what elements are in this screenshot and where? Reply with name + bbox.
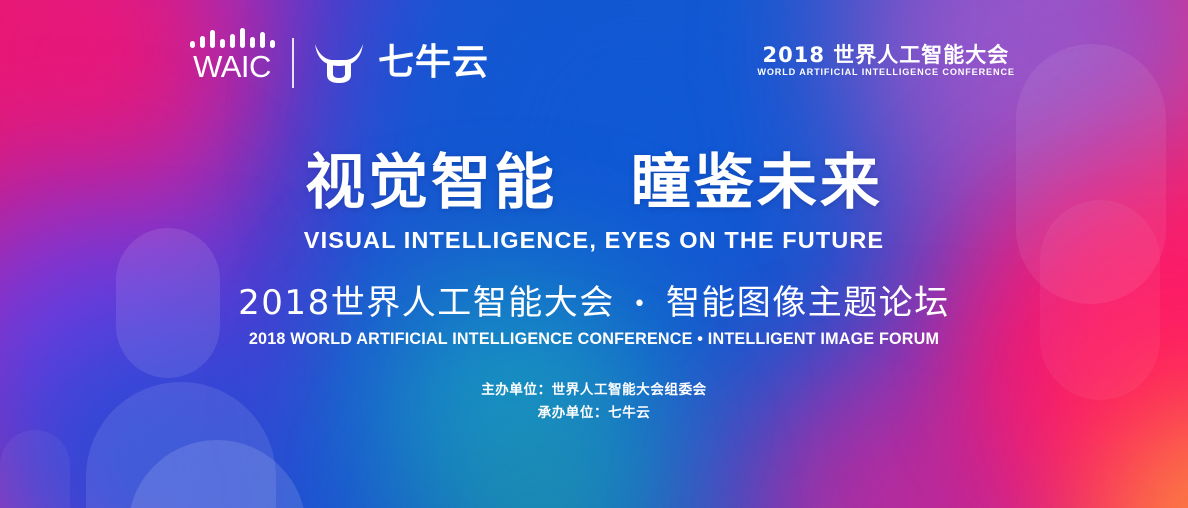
conference-banner: WAIC 七牛云 2018 世界人工智能大会 WORLD ARTIFICIAL … xyxy=(0,0,1188,508)
page-title: 视觉智能 瞳鉴未来 xyxy=(0,150,1188,216)
banner-main: 视觉智能 瞳鉴未来 VISUAL INTELLIGENCE, EYES ON T… xyxy=(0,150,1188,426)
conference-badge: 2018 世界人工智能大会 WORLD ARTIFICIAL INTELLIGE… xyxy=(752,44,1020,78)
conference-title-cn: 2018世界人工智能大会 • 智能图像主题论坛 xyxy=(0,284,1188,323)
conference-title-cn-left: 2018世界人工智能大会 xyxy=(238,283,615,323)
qiniu-logo: 七牛云 xyxy=(312,38,489,88)
organizer-host: 主办单位：世界人工智能大会组委会 xyxy=(0,379,1188,403)
conference-title-en: 2018 WORLD ARTIFICIAL INTELLIGENCE CONFE… xyxy=(30,330,1159,349)
banner-header: WAIC 七牛云 2018 世界人工智能大会 WORLD ARTIFICIAL … xyxy=(0,0,1188,110)
organizer-block: 主办单位：世界人工智能大会组委会 承办单位：七牛云 xyxy=(0,379,1188,426)
decorative-pill-far-left xyxy=(0,430,70,508)
conference-badge-en: WORLD ARTIFICIAL INTELLIGENCE CONFERENCE xyxy=(757,68,1014,78)
organizer-operator: 承办单位：七牛云 xyxy=(0,402,1188,426)
conference-badge-cn: 2018 世界人工智能大会 xyxy=(752,44,1020,66)
waic-wordmark: WAIC xyxy=(176,51,288,82)
headline-part-left: 视觉智能 xyxy=(305,148,557,218)
headline-part-right: 瞳鉴未来 xyxy=(631,148,883,218)
waic-logo: WAIC xyxy=(176,26,288,88)
qiniu-wordmark: 七牛云 xyxy=(378,45,489,81)
headline-subtitle-en: VISUAL INTELLIGENCE, EYES ON THE FUTURE xyxy=(0,228,1188,254)
waic-waveform-icon xyxy=(176,26,288,48)
bull-head-icon xyxy=(312,41,366,85)
conference-title-cn-right: 智能图像主题论坛 xyxy=(666,283,950,323)
bullet-separator-icon: • xyxy=(627,292,653,317)
logo-divider xyxy=(292,38,294,88)
